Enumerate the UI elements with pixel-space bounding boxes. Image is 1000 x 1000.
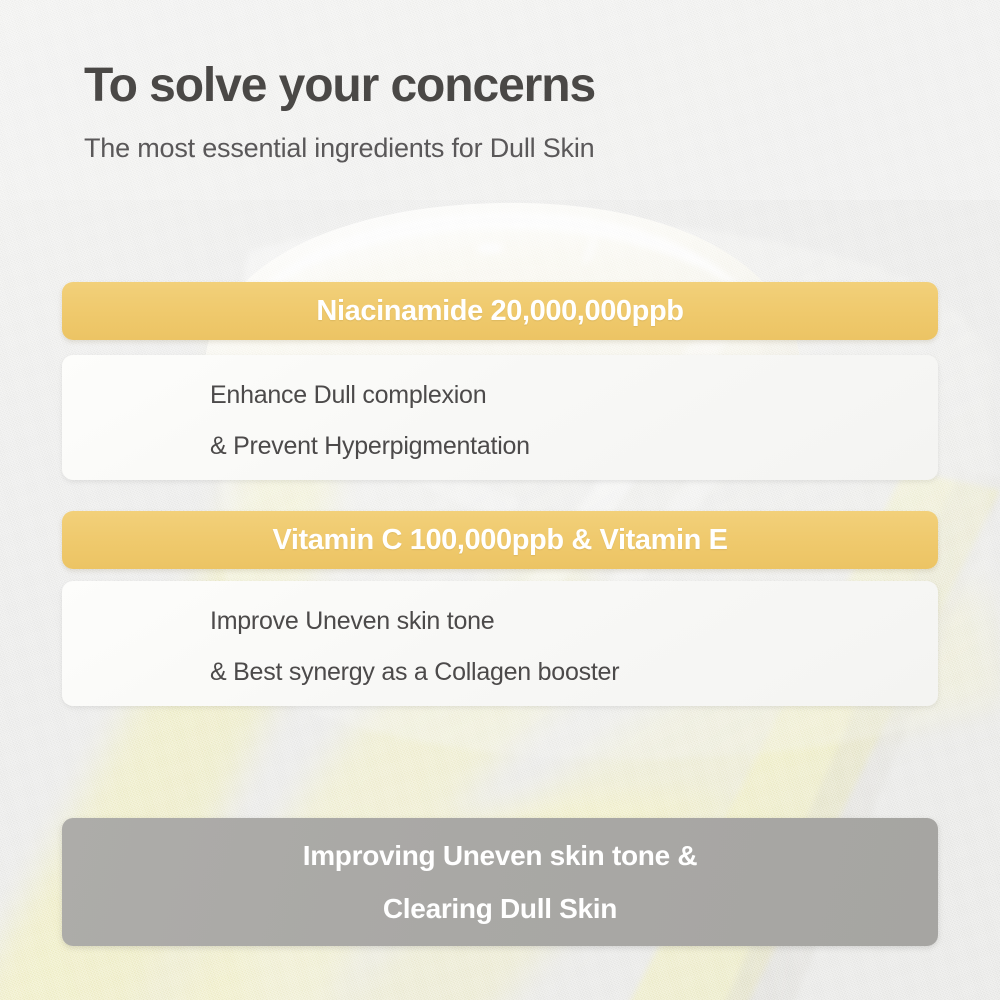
benefit-line: & Prevent Hyperpigmentation <box>210 434 938 459</box>
benefit-line: Improve Uneven skin tone <box>210 609 938 634</box>
summary-line-1: Improving Uneven skin tone & <box>303 842 698 870</box>
page-title: To solve your concerns <box>84 58 595 113</box>
page-subtitle: The most essential ingredients for Dull … <box>84 133 594 164</box>
benefit-line: & Best synergy as a Collagen booster <box>210 660 938 685</box>
ingredient-banner-niacinamide: Niacinamide 20,000,000ppb <box>62 282 938 340</box>
summary-line-2: Clearing Dull Skin <box>383 895 617 923</box>
summary-banner: Improving Uneven skin tone & Clearing Du… <box>62 818 938 946</box>
ingredient-benefits-card-niacinamide: Enhance Dull complexion & Prevent Hyperp… <box>62 355 938 480</box>
promo-graphic: To solve your concerns The most essentia… <box>0 0 1000 1000</box>
ingredient-banner-label: Vitamin C 100,000ppb & Vitamin E <box>272 524 727 557</box>
ingredient-benefits-card-vitamin-c: Improve Uneven skin tone & Best synergy … <box>62 581 938 706</box>
ingredient-banner-label: Niacinamide 20,000,000ppb <box>316 295 683 328</box>
ingredient-banner-vitamin-c: Vitamin C 100,000ppb & Vitamin E <box>62 511 938 569</box>
benefit-line: Enhance Dull complexion <box>210 383 938 408</box>
